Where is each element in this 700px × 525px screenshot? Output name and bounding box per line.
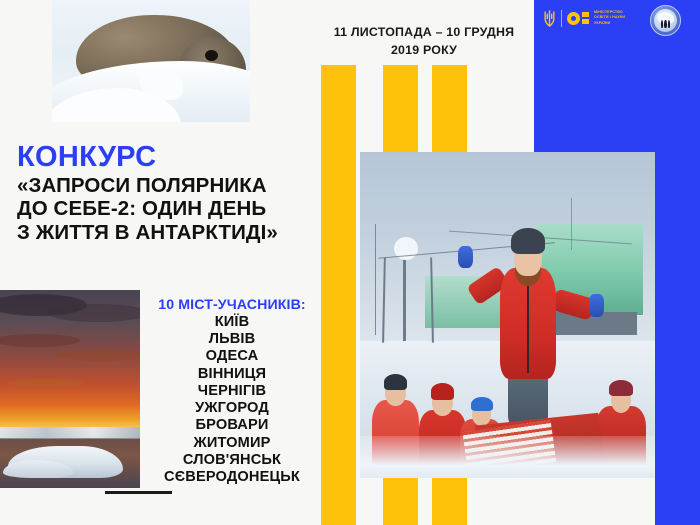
- antarctic-sunset-iceberg-photo: [0, 290, 140, 488]
- ministry-logo-text: МІНІСТЕРСТВО ОСВІТИ І НАУКИ УКРАЇНИ: [594, 10, 625, 26]
- hero-person: [478, 224, 578, 426]
- city-item: СЛОВ'ЯНСЬК: [142, 452, 322, 469]
- antarctic-center-emblem-icon: [650, 5, 681, 36]
- logo-divider: [561, 10, 562, 27]
- headline-line-3: З ЖИТТЯ В АНТАРКТИДІ»: [17, 221, 337, 244]
- headline-block: КОНКУРС «ЗАПРОСИ ПОЛЯРНИКА ДО СЕБЕ-2: ОД…: [17, 143, 337, 244]
- headline-line-1: «ЗАПРОСИ ПОЛЯРНИКА: [17, 174, 337, 197]
- headline-line-2: ДО СЕБЕ-2: ОДИН ДЕНЬ: [17, 197, 337, 220]
- ministry-logo-lockup: МІНІСТЕРСТВО ОСВІТИ І НАУКИ УКРАЇНИ: [543, 8, 625, 28]
- event-date-line-2: 2019 РОКУ: [318, 42, 530, 60]
- city-item: ЛЬВІВ: [142, 331, 322, 348]
- headline-konkurs: КОНКУРС: [17, 143, 337, 172]
- ministry-line-2: ОСВІТИ І НАУКИ: [594, 15, 625, 20]
- mon-circle-square-icon: [567, 12, 589, 25]
- ukraine-trident-icon: [543, 8, 556, 28]
- city-item: ЧЕРНІГІВ: [142, 383, 322, 400]
- cities-block: 10 МІСТ-УЧАСНИКІВ: КИЇВ ЛЬВІВ ОДЕСА ВІНН…: [142, 297, 322, 486]
- city-item: ВІННИЦЯ: [142, 366, 322, 383]
- cities-title: 10 МІСТ-УЧАСНИКІВ:: [142, 297, 322, 313]
- polar-team-celebrating-photo: [360, 152, 655, 478]
- city-item: УЖГОРОД: [142, 400, 322, 417]
- blue-side-panel: [655, 152, 700, 525]
- city-item: ОДЕСА: [142, 348, 322, 365]
- city-item: КИЇВ: [142, 314, 322, 331]
- event-date-line-1: 11 ЛИСТОПАДА – 10 ГРУДНЯ: [318, 24, 530, 42]
- city-item: БРОВАРИ: [142, 417, 322, 434]
- event-date: 11 ЛИСТОПАДА – 10 ГРУДНЯ 2019 РОКУ: [318, 24, 530, 59]
- poster-canvas: МІНІСТЕРСТВО ОСВІТИ І НАУКИ УКРАЇНИ 11 Л…: [0, 0, 700, 525]
- yellow-bar-1: [321, 65, 356, 525]
- ministry-line-3: УКРАЇНИ: [594, 21, 625, 26]
- decorative-rule: [105, 491, 172, 494]
- seal-on-snow-photo: [52, 0, 250, 122]
- city-item: СЄВЕРОДОНЕЦЬК: [142, 469, 322, 486]
- city-item: ЖИТОМИР: [142, 435, 322, 452]
